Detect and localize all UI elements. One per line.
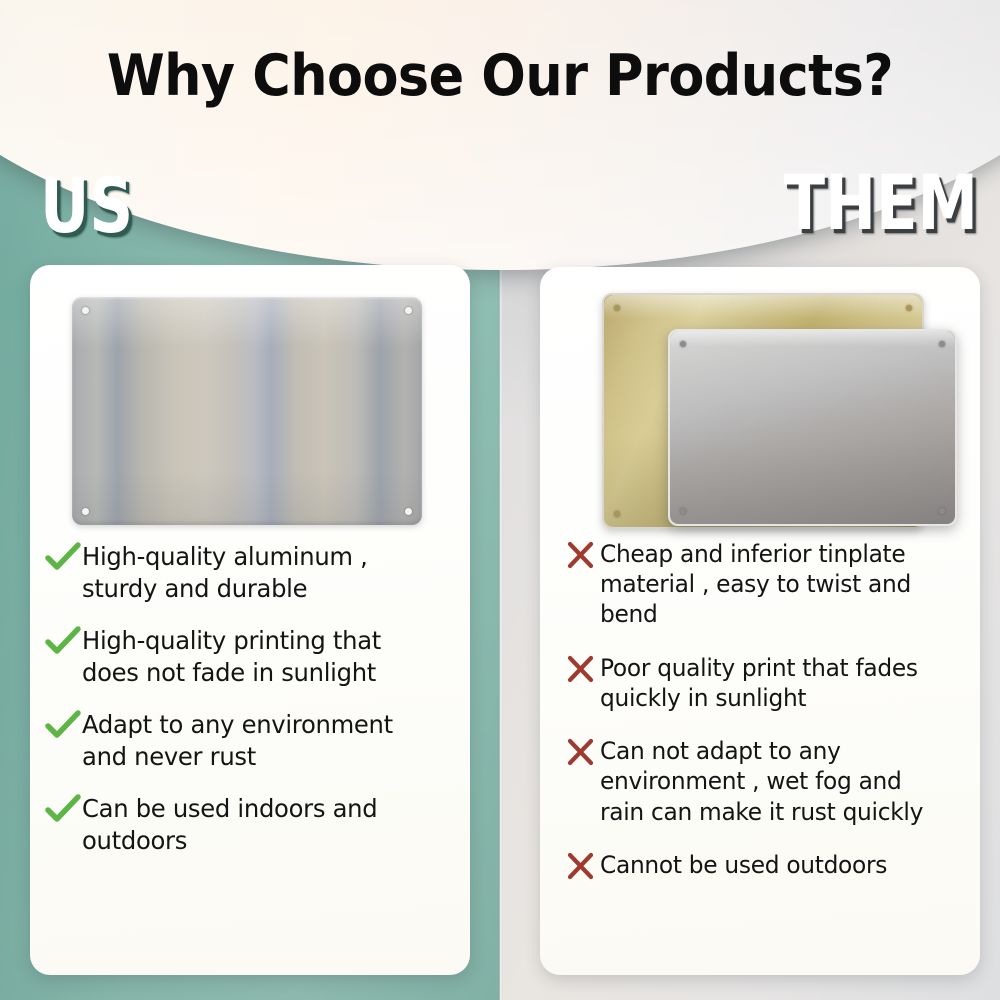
list-item-label: High-quality aluminum , sturdy and durab… [82, 541, 441, 604]
list-item-label: Cannot be used outdoors [600, 850, 887, 880]
cross-icon [562, 851, 600, 881]
us-feature-list: High-quality aluminum , sturdy and durab… [30, 527, 470, 856]
check-icon [44, 710, 82, 740]
screw-hole-icon [82, 307, 89, 314]
cross-icon [562, 654, 600, 684]
check-icon [44, 794, 82, 824]
comparison-poster: Why Choose Our Products? US THEM High-qu… [0, 0, 1000, 1000]
us-product-image [30, 265, 470, 527]
screw-hole-icon [939, 508, 945, 514]
list-item-label: Adapt to any environment and never rust [82, 709, 441, 772]
us-card: High-quality aluminum , sturdy and durab… [30, 265, 470, 975]
screw-hole-icon [680, 508, 686, 514]
silver-tinplate-plate-image [668, 329, 957, 526]
screw-hole-icon [405, 307, 412, 314]
column-heading-us: US [40, 161, 133, 250]
column-heading-them: THEM [784, 158, 978, 247]
screw-hole-icon [405, 508, 412, 515]
screw-hole-icon [614, 511, 620, 517]
list-item: Can not adapt to any environment , wet f… [562, 736, 962, 827]
screw-hole-icon [614, 305, 620, 311]
aluminum-plate-image [72, 297, 422, 525]
check-icon [44, 626, 82, 656]
list-item-label: High-quality printing that does not fade… [82, 625, 441, 688]
cross-icon [562, 540, 600, 570]
them-feature-list: Cheap and inferior tinplate material , e… [540, 529, 980, 881]
list-item: Can be used indoors and outdoors [44, 793, 452, 856]
screw-hole-icon [82, 508, 89, 515]
list-item-label: Can not adapt to any environment , wet f… [600, 736, 951, 827]
list-item: High-quality printing that does not fade… [44, 625, 452, 688]
list-item: High-quality aluminum , sturdy and durab… [44, 541, 452, 604]
check-icon [44, 542, 82, 572]
cross-icon [562, 737, 600, 767]
screw-hole-icon [906, 305, 912, 311]
list-item: Adapt to any environment and never rust [44, 709, 452, 772]
them-product-image [540, 267, 980, 529]
them-card: Cheap and inferior tinplate material , e… [540, 267, 980, 975]
list-item: Cannot be used outdoors [562, 850, 962, 881]
list-item: Poor quality print that fades quickly in… [562, 653, 962, 713]
list-item-label: Cheap and inferior tinplate material , e… [600, 539, 951, 630]
screw-hole-icon [680, 341, 686, 347]
screw-hole-icon [939, 341, 945, 347]
list-item: Cheap and inferior tinplate material , e… [562, 539, 962, 630]
list-item-label: Poor quality print that fades quickly in… [600, 653, 951, 713]
list-item-label: Can be used indoors and outdoors [82, 793, 441, 856]
page-title: Why Choose Our Products? [40, 43, 960, 109]
